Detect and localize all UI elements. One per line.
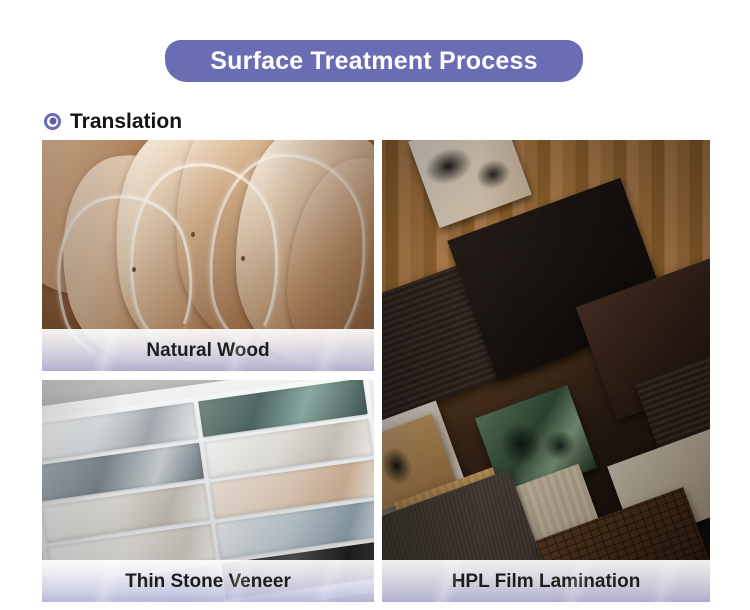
caption-bar-natural-wood: Natural Wood — [42, 329, 374, 371]
gallery-column-right: HPL Film Lamination — [382, 140, 710, 602]
gallery-card-hpl-film-lamination[interactable]: HPL Film Lamination — [382, 140, 710, 602]
caption-label: Thin Stone Veneer — [125, 572, 291, 591]
page-title: Surface Treatment Process — [210, 49, 537, 74]
gallery-column-left: Natural Wood Thi — [42, 140, 374, 602]
title-banner: Surface Treatment Process — [165, 40, 583, 82]
gallery-card-natural-wood[interactable]: Natural Wood — [42, 140, 374, 371]
caption-bar-hpl-film-lamination: HPL Film Lamination — [382, 560, 710, 602]
title-banner-row: Surface Treatment Process — [0, 40, 750, 82]
caption-bar-thin-stone-veneer: Thin Stone Veneer — [42, 560, 374, 602]
caption-label: HPL Film Lamination — [452, 572, 641, 591]
section-label: Translation — [70, 111, 182, 132]
radio-filled-icon — [44, 113, 61, 130]
caption-label: Natural Wood — [146, 341, 269, 360]
section-header-translation: Translation — [44, 108, 182, 134]
gallery-card-thin-stone-veneer[interactable]: Thin Stone Veneer — [42, 380, 374, 602]
image-gallery: Natural Wood Thi — [42, 140, 710, 602]
photo-hpl-film-lamination — [382, 140, 710, 602]
